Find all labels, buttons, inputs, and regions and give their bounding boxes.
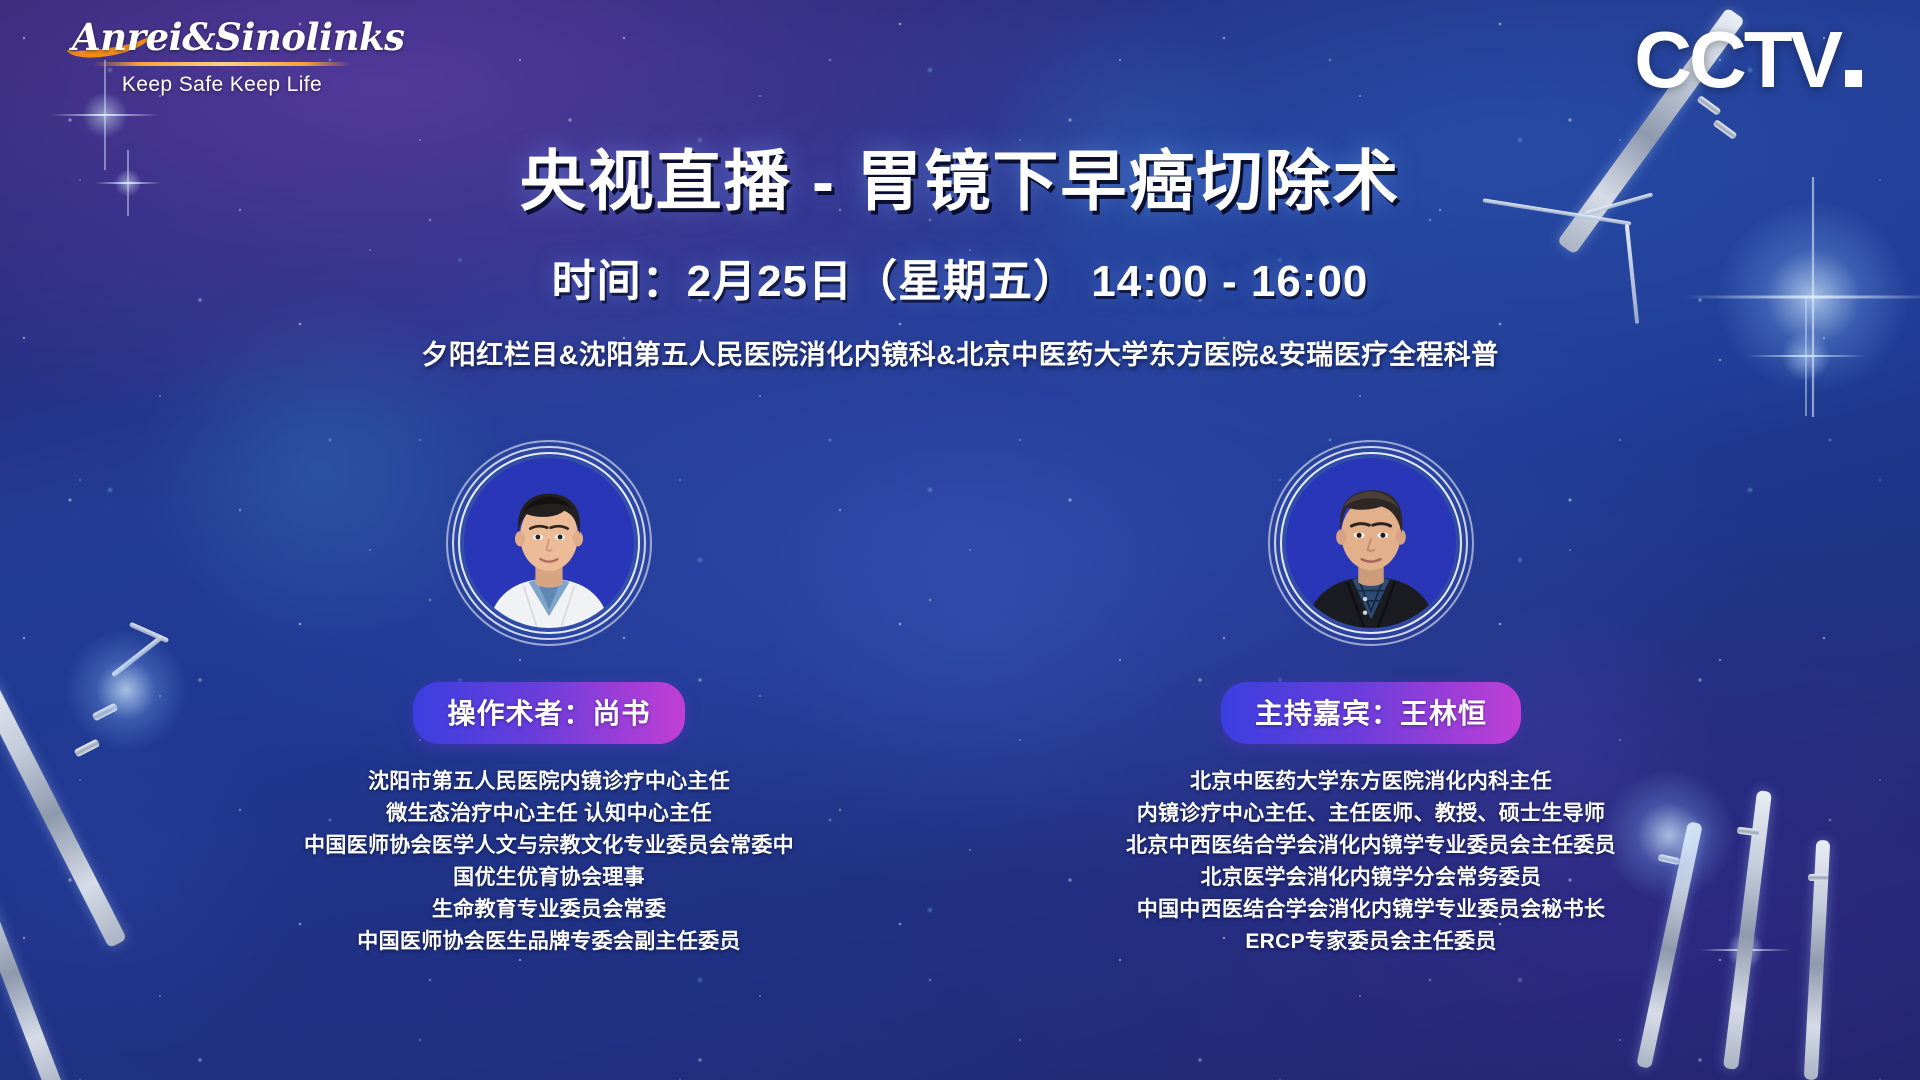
brand-wordmark: Anrei&Sinolinks: [72, 18, 372, 57]
credential-item: 北京医学会消化内镜学分会常务委员: [1126, 862, 1616, 894]
portrait-host-illustration: [1286, 458, 1456, 628]
credential-item: 国优生优育协会理事: [304, 862, 794, 894]
cctv-logo-text: CCTV: [1634, 15, 1840, 104]
credential-item: 微生态治疗中心主任 认知中心主任: [304, 798, 794, 830]
brand-name-text: Anrei&Sinolinks: [72, 15, 404, 59]
credential-item: 中国医师协会医生品牌专委会副主任委员: [304, 926, 794, 958]
cctv-logo-dot-icon: [1845, 70, 1862, 87]
event-partners: 夕阳红栏目&沈阳第五人民医院消化内镜科&北京中医药大学东方医院&安瑞医疗全程科普: [0, 333, 1920, 372]
speaker-name-badge-operator: 操作术者：尚书: [413, 682, 684, 744]
credential-item: ERCP专家委员会主任委员: [1126, 926, 1616, 958]
speaker-card-operator: 操作术者：尚书 沈阳市第五人民医院内镜诊疗中心主任 微生态治疗中心主任 认知中心…: [269, 440, 829, 957]
brand-tagline: Keep Safe Keep Life: [72, 73, 372, 97]
avatar: [1268, 440, 1474, 646]
event-time: 时间：2月25日（星期五） 14:00 - 16:00: [0, 245, 1920, 309]
avatar-photo-host: [1286, 458, 1456, 628]
speaker-credentials-host: 北京中医药大学东方医院消化内科主任 内镜诊疗中心主任、主任医师、教授、硕士生导师…: [1126, 766, 1616, 957]
credential-item: 中国医师协会医学人文与宗教文化专业委员会常委中: [304, 830, 794, 862]
portrait-operator-illustration: [464, 458, 634, 628]
avatar-photo-operator: [464, 458, 634, 628]
page-title: 央视直播 - 胃镜下早癌切除术: [0, 145, 1920, 219]
credential-item: 北京中西医结合学会消化内镜学专业委员会主任委员: [1126, 830, 1616, 862]
avatar: [446, 440, 652, 646]
speaker-list: 操作术者：尚书 沈阳市第五人民医院内镜诊疗中心主任 微生态治疗中心主任 认知中心…: [0, 440, 1920, 957]
speaker-credentials-operator: 沈阳市第五人民医院内镜诊疗中心主任 微生态治疗中心主任 认知中心主任 中国医师协…: [304, 766, 794, 957]
brand-divider: [93, 62, 351, 66]
credential-item: 内镜诊疗中心主任、主任医师、教授、硕士生导师: [1126, 798, 1616, 830]
credential-item: 北京中医药大学东方医院消化内科主任: [1126, 766, 1616, 798]
credential-item: 沈阳市第五人民医院内镜诊疗中心主任: [304, 766, 794, 798]
speaker-card-host: 主持嘉宾：王林恒 北京中医药大学东方医院消化内科主任 内镜诊疗中心主任、主任医师…: [1091, 440, 1651, 957]
headline-block: 央视直播 - 胃镜下早癌切除术 时间：2月25日（星期五） 14:00 - 16…: [0, 145, 1920, 372]
cctv-logo: CCTV: [1634, 14, 1862, 106]
poster-canvas: Anrei&Sinolinks Keep Safe Keep Life CCTV…: [0, 0, 1920, 1080]
credential-item: 生命教育专业委员会常委: [304, 894, 794, 926]
credential-item: 中国中西医结合学会消化内镜学专业委员会秘书长: [1126, 894, 1616, 926]
speaker-name-badge-host: 主持嘉宾：王林恒: [1221, 682, 1521, 744]
brand-logo: Anrei&Sinolinks Keep Safe Keep Life: [72, 18, 372, 97]
